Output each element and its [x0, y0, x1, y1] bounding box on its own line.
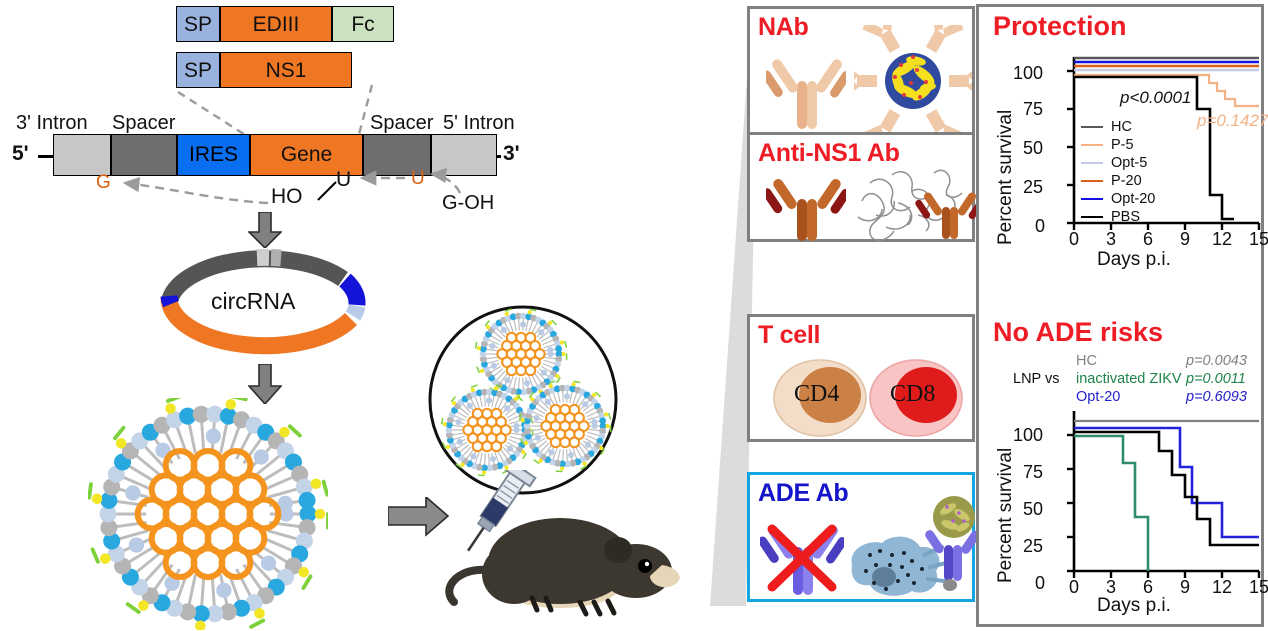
antibody-icon-nab [766, 47, 846, 133]
legend-label-opt5: Opt-5 [1111, 155, 1147, 171]
cd4-label: CD4 [794, 381, 839, 408]
protection-x-axis-label: Days p.i. [1097, 249, 1171, 271]
protection-pvalue-main: p<0.0001 [1120, 88, 1191, 108]
legend-swatch-hc [1081, 126, 1103, 128]
tick-5prime [38, 155, 53, 158]
circrna-label: circRNA [211, 288, 295, 315]
panel-anti-ns1-ab[interactable]: Anti-NS1 Ab [747, 132, 975, 242]
legend-swatch-p20 [1081, 180, 1103, 182]
no-ade-lnp-vs-label: LNP vs [1013, 371, 1059, 387]
protection-pvalue-p5: p=0.1427 [1197, 111, 1268, 131]
legend-label-p5: P-5 [1111, 137, 1134, 153]
no-ade-pvalue-inactivated-zikv: p=0.0011 [1186, 371, 1246, 387]
segment-ediii: EDIII [220, 6, 332, 42]
mouse-illustration [440, 470, 690, 630]
label-spacer-right: Spacer [370, 112, 433, 135]
label-5prime-intron: 5' Intron [443, 112, 515, 135]
curve-no-ade-opt20 [1074, 428, 1259, 537]
no-ade-plot [979, 397, 1267, 597]
legend-label-hc: HC [1111, 119, 1132, 135]
ns1-protein-structure-icon [846, 161, 976, 245]
splicing-arrows: G --> U --> U(orange) --> [0, 160, 520, 220]
panel-title-t-cell: T cell [758, 321, 820, 350]
antibody-icon-ns1 [766, 169, 846, 243]
panel-nab[interactable]: NAb [747, 6, 975, 138]
chart-title-no-ade-risks: No ADE risks [993, 317, 1163, 348]
ade-antibody-virion-icon [920, 493, 980, 593]
label-spacer-left: Spacer [112, 112, 175, 135]
virion-neutralized-icon [854, 25, 972, 137]
legend-label-opt20: Opt-20 [1111, 191, 1155, 207]
legend-swatch-pbs [1081, 216, 1103, 218]
legend-swatch-opt20 [1081, 198, 1103, 200]
right-charts-panel: Protection Percent survival Days p.i. 10… [976, 4, 1264, 627]
legend-swatch-p5 [1081, 144, 1103, 146]
segment-fc: Fc [332, 6, 394, 42]
curve-no-ade-inactivated-zikv [1074, 436, 1148, 571]
lnp-nanoparticle-detail [88, 398, 328, 630]
legend-label-p20: P-20 [1111, 173, 1142, 189]
panel-ade-ab[interactable]: ADE Ab [747, 472, 975, 602]
panel-title-ade-ab: ADE Ab [758, 479, 848, 508]
panel-title-nab: NAb [758, 13, 808, 42]
no-ade-group-hc: HC [1076, 353, 1097, 369]
no-ade-pvalue-hc: p=0.0043 [1186, 353, 1247, 369]
legend-label-pbs: PBS [1111, 209, 1140, 225]
no-ade-group-inactivated-zikv: inactivated ZIKV [1076, 371, 1182, 387]
down-arrow-1 [248, 212, 282, 248]
curve-no-ade-black [1074, 432, 1259, 545]
no-ade-x-axis-label: Days p.i. [1097, 595, 1171, 617]
legend-swatch-opt5 [1081, 162, 1103, 164]
segment-sp-1: SP [176, 6, 220, 42]
antibody-crossed-icon [760, 513, 844, 599]
panel-t-cell[interactable]: T cell CD4 CD8 [747, 314, 975, 442]
label-3prime-intron: 3' Intron [16, 112, 88, 135]
lnp-inset-circle [425, 302, 621, 498]
cd8-label: CD8 [890, 381, 935, 408]
